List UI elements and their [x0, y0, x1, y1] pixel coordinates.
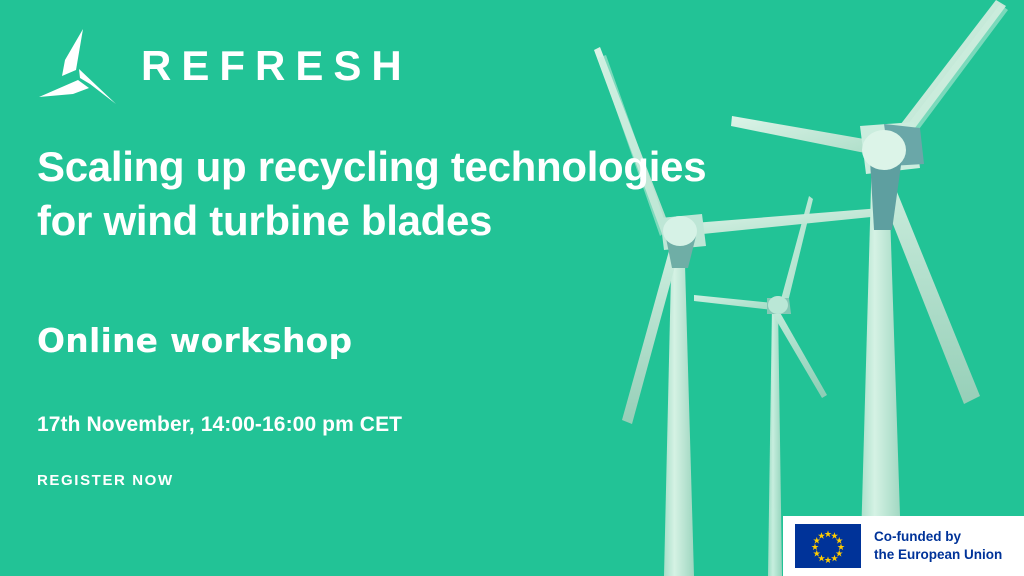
eu-funding-badge: Co-funded by the European Union — [783, 516, 1024, 576]
brand-wordmark: REFRESH — [141, 45, 412, 87]
copy-block: Scaling up recycling technologies for wi… — [37, 140, 657, 490]
headline-line-2: for wind turbine blades — [37, 194, 657, 248]
headline-line-1: Scaling up recycling technologies — [37, 140, 657, 194]
event-format-subtitle: Online workshop — [37, 248, 657, 361]
register-now-cta[interactable]: REGISTER NOW — [37, 437, 657, 490]
page-title: Scaling up recycling technologies for wi… — [37, 140, 657, 248]
eu-flag-icon — [795, 524, 861, 568]
brand-logo[interactable]: REFRESH — [37, 26, 412, 106]
eu-funding-text: Co-funded by the European Union — [874, 528, 1002, 564]
promotional-banner: REFRESH Scaling up recycling technologie… — [0, 0, 1024, 576]
event-datetime: 17th November, 14:00-16:00 pm CET — [37, 360, 657, 437]
eu-text-line-2: the European Union — [874, 546, 1002, 564]
wind-turbine-pinwheel-icon — [37, 26, 119, 106]
eu-text-line-1: Co-funded by — [874, 528, 1002, 546]
